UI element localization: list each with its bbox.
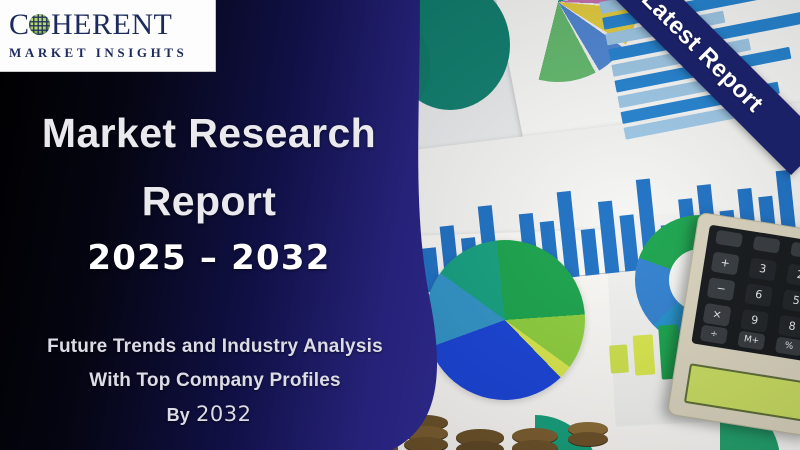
logo-letters-rest: HERENT bbox=[51, 10, 172, 40]
subheading-line3: By2032 bbox=[0, 402, 418, 426]
page-title-line1: Market Research bbox=[0, 108, 418, 158]
subheading-year: 2032 bbox=[196, 402, 251, 426]
forecast-years: 2025 – 2032 bbox=[0, 238, 418, 278]
logo-tagline: MARKET INSIGHTS bbox=[9, 45, 215, 61]
subheading-by-label: By bbox=[167, 405, 190, 425]
page-title-line2: Report bbox=[0, 176, 418, 226]
logo[interactable]: C HERENT MARKET INSIGHTS bbox=[0, 0, 216, 72]
logo-letter-c: C bbox=[9, 10, 29, 40]
globe-grid-icon bbox=[29, 14, 50, 35]
logo-wordmark: C HERENT bbox=[9, 8, 215, 42]
subheading-line2: With Top Company Profiles bbox=[0, 370, 430, 392]
report-banner: + 3 2 − 6 5 × 9 8 ÷ M+ % bbox=[0, 0, 800, 450]
subheading-line1: Future Trends and Industry Analysis bbox=[0, 336, 430, 358]
